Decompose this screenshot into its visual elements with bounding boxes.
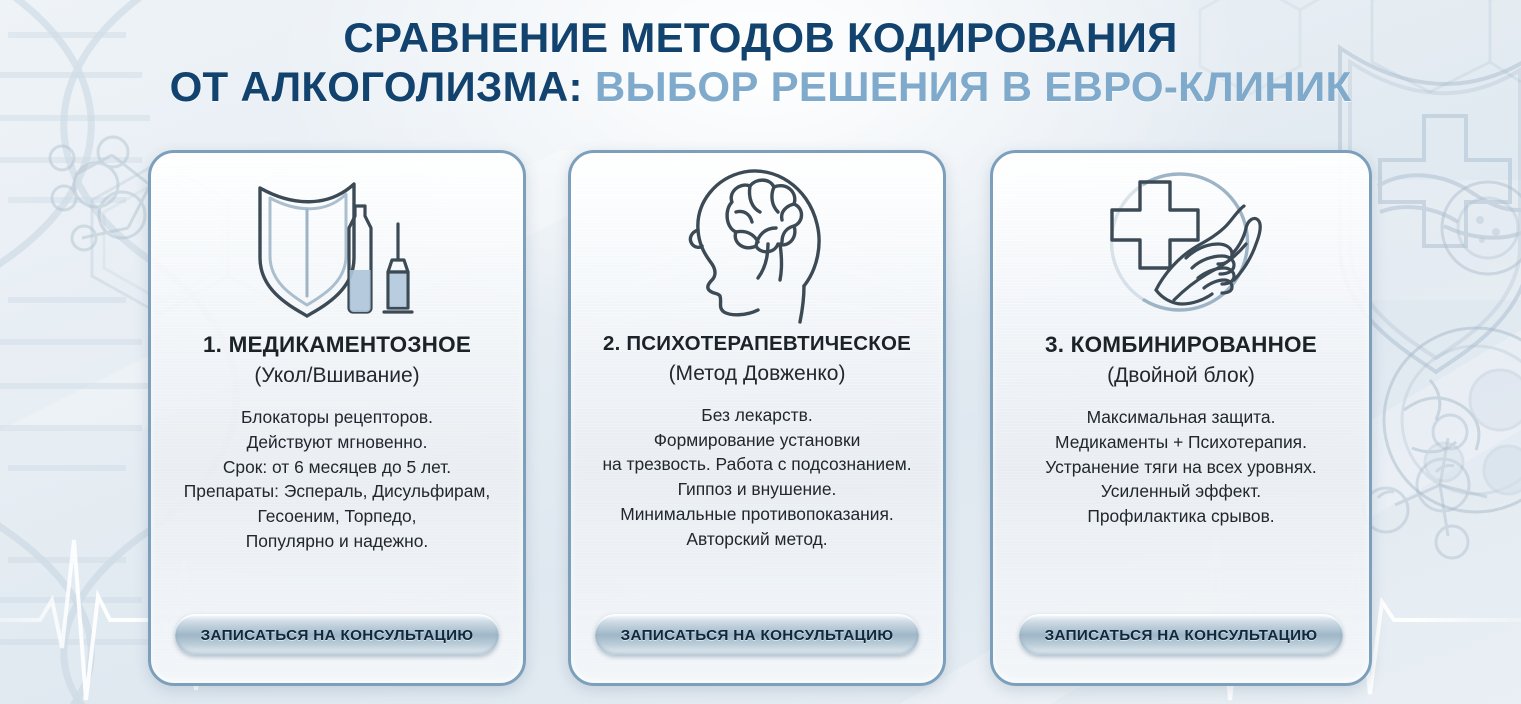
card-title: 2. ПСИХОТЕРАПЕВТИЧЕСКОЕ — [603, 333, 911, 356]
method-card-psychotherapy[interactable]: 2. ПСИХОТЕРАПЕВТИЧЕСКОЕ (Метод Довженко)… — [568, 150, 946, 686]
title-line-2-light: ВЫБОР РЕШЕНИЯ В ЕВРО-КЛИНИК — [595, 63, 1352, 110]
desc-line: Препараты: Эспераль, Дисульфирам, — [184, 479, 490, 504]
desc-line: Гиппоз и внушение. — [602, 477, 911, 502]
desc-line: Усиленный эффект. — [1045, 479, 1317, 504]
consultation-button[interactable]: ЗАПИСАТЬСЯ НА КОНСУЛЬТАЦИЮ — [175, 614, 500, 655]
title-line-1: СРАВНЕНИЕ МЕТОДОВ КОДИРОВАНИЯ — [0, 14, 1521, 61]
card-title: 1. МЕДИКАМЕНТОЗНОЕ — [203, 333, 471, 358]
desc-line: Действуют мгновенно. — [184, 430, 490, 455]
card-subtitle: (Двойной блок) — [1107, 364, 1255, 388]
card-subtitle: (Метод Довженко) — [669, 362, 846, 386]
page-title: СРАВНЕНИЕ МЕТОДОВ КОДИРОВАНИЯ ОТ АЛКОГОЛ… — [0, 14, 1521, 110]
desc-line: Устранение тяги на всех уровнях. — [1045, 455, 1317, 480]
card-description: Блокаторы рецепторов. Действуют мгновенн… — [176, 405, 498, 553]
consultation-button[interactable]: ЗАПИСАТЬСЯ НА КОНСУЛЬТАЦИЮ — [1019, 614, 1344, 655]
method-card-combined[interactable]: 3. КОМБИНИРОВАННОЕ (Двойной блок) Максим… — [990, 150, 1372, 686]
desc-line: Срок: от 6 месяцев до 5 лет. — [184, 455, 490, 480]
shield-ampoule-syringe-icon — [151, 153, 523, 331]
method-cards: 1. МЕДИКАМЕНТОЗНОЕ (Укол/Вшивание) Блока… — [0, 150, 1521, 690]
desc-line: Медикаменты + Психотерапия. — [1045, 430, 1317, 455]
desc-line: Формирование установки — [602, 428, 911, 453]
cross-helping-hands-icon — [993, 153, 1369, 331]
title-line-2-dark: ОТ АЛКОГОЛИЗМА: — [170, 63, 583, 110]
desc-line: Популярно и надежно. — [184, 529, 490, 554]
desc-line: на трезвость. Работа с подсознанием. — [602, 452, 911, 477]
card-description: Максимальная защита. Медикаменты + Психо… — [1037, 405, 1325, 529]
card-subtitle: (Укол/Вшивание) — [254, 364, 419, 388]
card-description: Без лекарств. Формирование установки на … — [594, 403, 919, 551]
desc-line: Авторский метод. — [602, 527, 911, 552]
consultation-button[interactable]: ЗАПИСАТЬСЯ НА КОНСУЛЬТАЦИЮ — [595, 614, 920, 655]
desc-line: Блокаторы рецепторов. — [184, 405, 490, 430]
card-title: 3. КОМБИНИРОВАННОЕ — [1045, 333, 1317, 358]
method-card-medication[interactable]: 1. МЕДИКАМЕНТОЗНОЕ (Укол/Вшивание) Блока… — [148, 150, 526, 686]
poster-canvas: СРАВНЕНИЕ МЕТОДОВ КОДИРОВАНИЯ ОТ АЛКОГОЛ… — [0, 0, 1521, 704]
title-line-2: ОТ АЛКОГОЛИЗМА: ВЫБОР РЕШЕНИЯ В ЕВРО-КЛИ… — [0, 63, 1521, 110]
desc-line: Профилактика срывов. — [1045, 504, 1317, 529]
desc-line: Без лекарств. — [602, 403, 911, 428]
head-brain-icon — [571, 153, 943, 331]
desc-line: Минимальные противопоказания. — [602, 502, 911, 527]
desc-line: Гесоеним, Торпедо, — [184, 504, 490, 529]
desc-line: Максимальная защита. — [1045, 405, 1317, 430]
